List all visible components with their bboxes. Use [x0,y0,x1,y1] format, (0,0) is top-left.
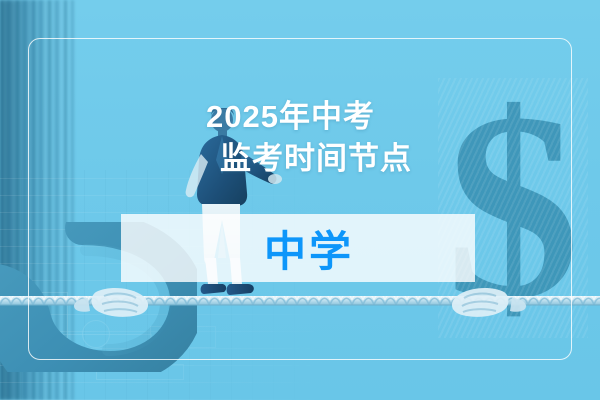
headline-block: 2025年中考 监考时间节点 [206,96,536,180]
poster-canvas: $ [0,0,600,400]
banner-label: 中学 [121,214,475,282]
headline-line-2: 监考时间节点 [220,138,536,180]
tightrope-icon [0,278,600,326]
headline-line-1: 2025年中考 [206,96,536,138]
banner-strip: 中学 [121,214,475,282]
